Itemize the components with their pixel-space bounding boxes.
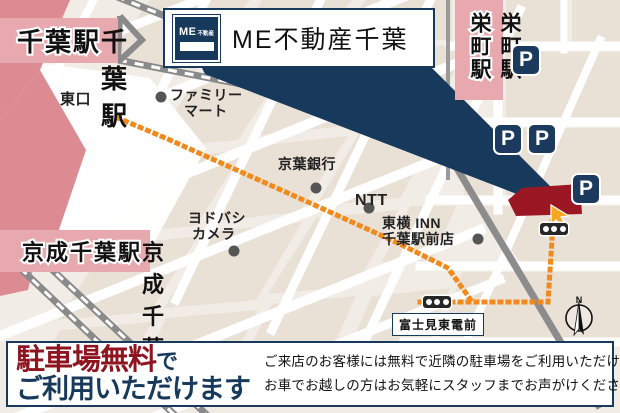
station-chiba-text-stroke: 千葉駅	[17, 27, 101, 57]
station-chiba-text: 千葉駅	[101, 22, 129, 133]
parking-free-banner: 駐車場無料で ご利用いただけます ご来店のお客様には無料で近隣の駐車場をご利用い…	[6, 341, 614, 407]
logo-sub-text: 不動産	[197, 29, 214, 37]
logo-mark-text: ME 不動産	[179, 26, 214, 38]
banner-headline-tail: で	[156, 349, 177, 374]
parking-icon-2[interactable]: P	[495, 125, 521, 153]
station-keisei-text-stroke: 京成千葉駅	[22, 240, 142, 265]
intersection-label-fujimihigashidenmae: 富士見東電前	[392, 313, 484, 336]
compass-north-label: N	[576, 295, 583, 305]
banner-headline-line1: 駐車場無料で	[16, 345, 250, 375]
station-label-sakaecho: 栄町駅 栄町駅	[455, 0, 503, 100]
station-sakaecho-text-stroke: 栄町駅	[464, 12, 494, 81]
traffic-signal-icon-1	[540, 223, 568, 235]
logo-white-bar	[180, 42, 214, 51]
poi-label-yodobashi: ヨドバシ カメラ	[188, 211, 246, 242]
station-label-keisei-chiba: 京成千葉駅 京成千葉駅	[0, 230, 150, 272]
logo-me-text: ME	[179, 26, 197, 38]
parking-icon-3[interactable]: P	[529, 125, 555, 153]
company-name-text: ME不動産千葉	[232, 20, 409, 56]
banner-note-line2: お車でお越しの方はお気軽にスタッフまでお声がけください。	[264, 374, 620, 398]
poi-yodobashi-line2: カメラ	[192, 227, 246, 243]
parking-icon-1[interactable]: P	[513, 46, 539, 74]
company-callout-box: ME 不動産 ME不動産千葉	[163, 8, 435, 68]
exit-label-higashiguchi: 東口	[60, 92, 91, 109]
signal-lamp	[543, 226, 549, 232]
poi-toyoko-line2: 千葉駅前店	[382, 232, 455, 248]
signal-lamp	[551, 226, 557, 232]
compass-icon: N	[562, 297, 596, 339]
banner-headline: 駐車場無料で ご利用いただけます	[16, 345, 250, 404]
poi-toyoko-line1: 東横 INN	[382, 216, 455, 232]
poi-label-ntt: NTT	[355, 192, 388, 210]
signal-lamp	[443, 299, 449, 305]
station-label-chiba: 千葉駅 千葉駅	[0, 18, 118, 63]
banner-note-line1: ご来店のお客様には無料で近隣の駐車場をご利用いただけます。	[264, 350, 620, 374]
poi-yodobashi-line1: ヨドバシ	[188, 211, 246, 227]
signal-lamp	[434, 299, 440, 305]
signal-lamp	[426, 299, 432, 305]
poi-familymart-line1: ファミリー	[170, 88, 243, 104]
banner-headline-line2: ご利用いただけます	[16, 375, 250, 403]
signal-lamp	[560, 226, 566, 232]
access-map: 千葉駅 千葉駅 京成千葉駅 京成千葉駅 栄町駅 栄町駅 東口 ファミリー マート…	[0, 0, 620, 413]
traffic-signal-icon-2	[423, 296, 451, 308]
poi-familymart-line2: マート	[184, 104, 243, 120]
poi-label-familymart: ファミリー マート	[170, 88, 243, 119]
banner-highlight-text: 駐車場無料	[16, 344, 156, 376]
poi-label-keiyo-bank: 京葉銀行	[278, 157, 336, 173]
parking-icon-4[interactable]: P	[573, 175, 599, 203]
me-fudosan-logo-icon: ME 不動産	[173, 15, 220, 62]
banner-note: ご来店のお客様には無料で近隣の駐車場をご利用いただけます。 お車でお越しの方はお…	[264, 350, 620, 397]
poi-label-toyoko-inn: 東横 INN 千葉駅前店	[382, 216, 455, 247]
